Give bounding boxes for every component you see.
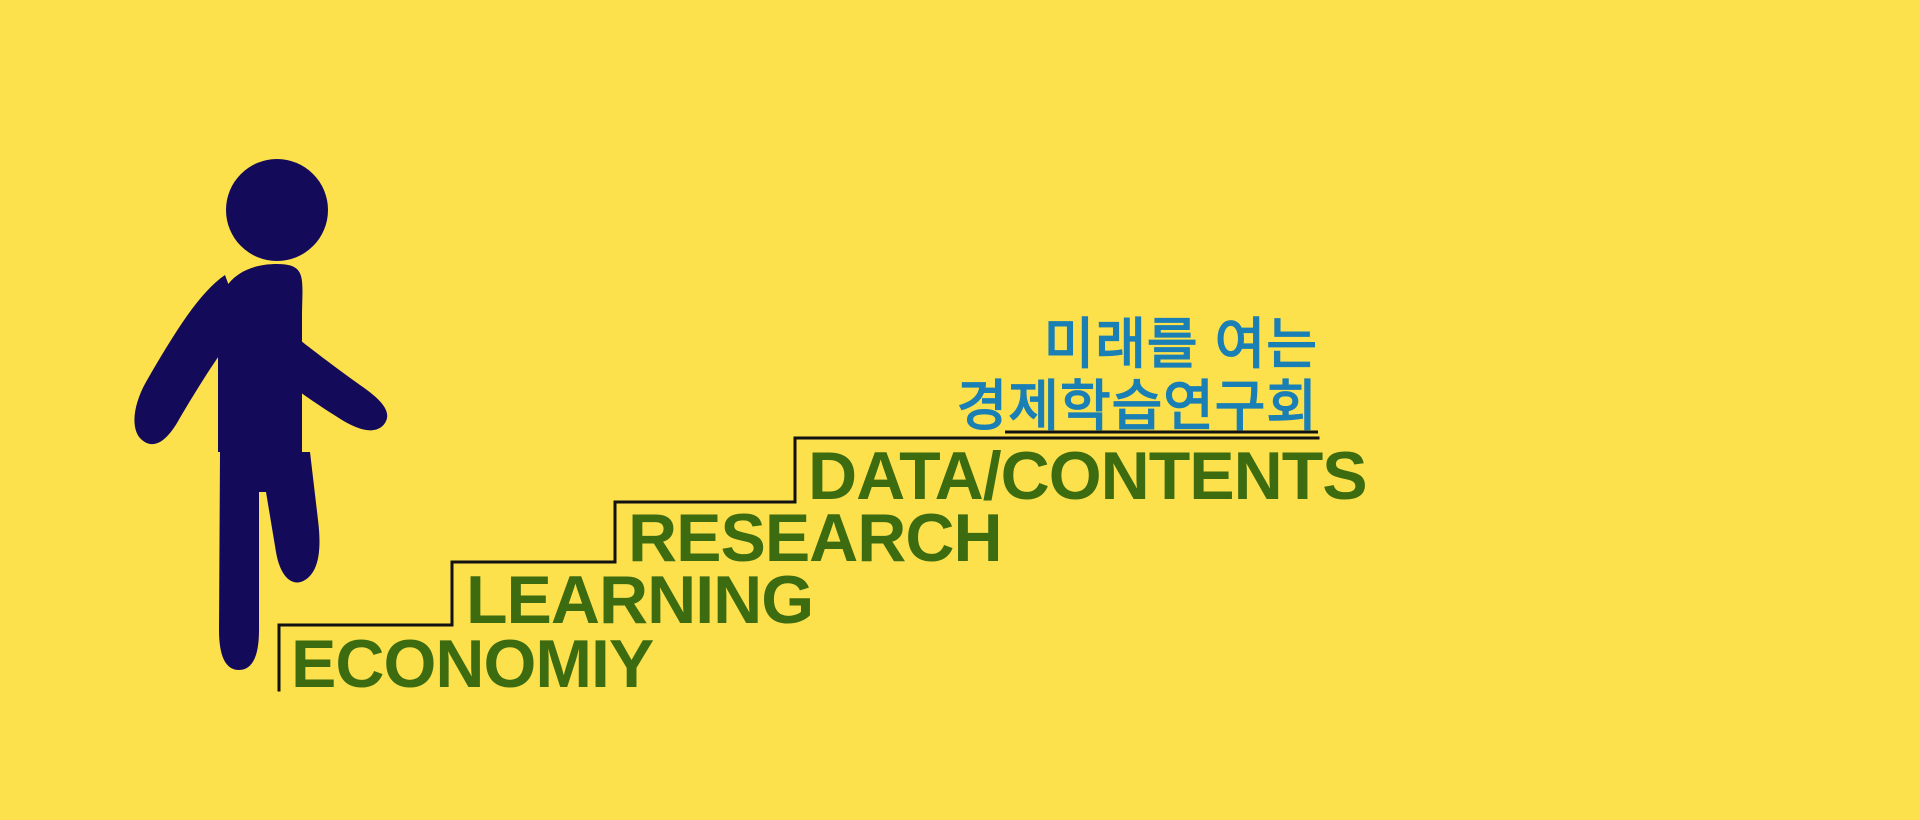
step-label-economy: ECONOMIY (291, 626, 654, 702)
banner-artwork: 미래를 여는 경제학습연구회 DATA/CONTENTS RESEARCH LE… (0, 0, 1920, 820)
economy-study-group-banner: 미래를 여는 경제학습연구회 DATA/CONTENTS RESEARCH LE… (0, 0, 1920, 820)
korean-heading-line2: 경제학습연구회 (957, 375, 1318, 437)
figure-head (226, 159, 328, 261)
korean-heading-line1: 미래를 여는 (1044, 313, 1318, 375)
